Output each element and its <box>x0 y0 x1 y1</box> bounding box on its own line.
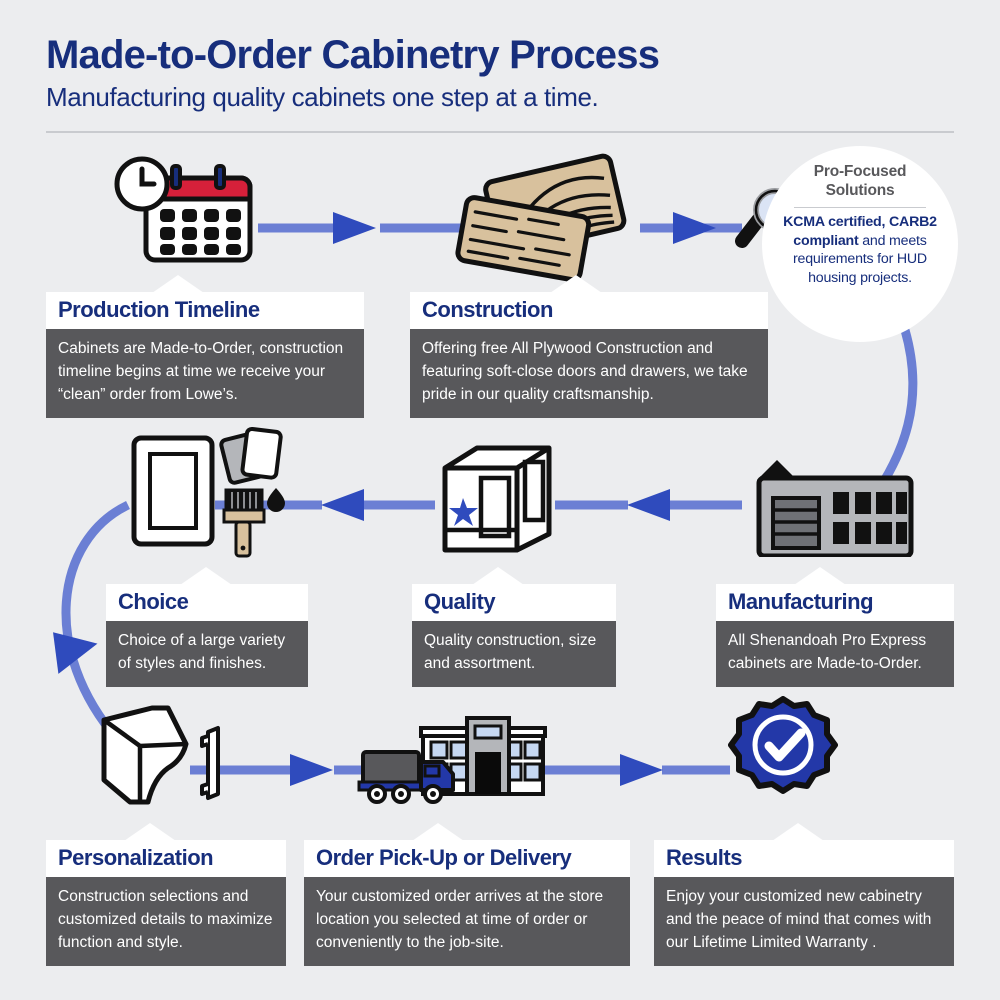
card-construction: Construction Offering free All Plywood C… <box>410 292 768 418</box>
card-results: Results Enjoy your customized new cabine… <box>654 840 954 966</box>
card-order-pickup-delivery: Order Pick-Up or Delivery Your customize… <box>304 840 630 966</box>
card-body: Choice of a large variety of styles and … <box>106 621 308 687</box>
arrowhead-right-3 <box>290 754 333 786</box>
card-heading: Order Pick-Up or Delivery <box>304 840 630 877</box>
card-heading: Choice <box>106 584 308 621</box>
truck-store-icon <box>355 704 550 806</box>
arrowhead-right-1 <box>333 212 376 244</box>
card-heading: Construction <box>410 292 768 329</box>
card-heading: Manufacturing <box>716 584 954 621</box>
pro-focused-badge: Pro-Focused Solutions KCMA certified, CA… <box>762 146 958 342</box>
card-pointer <box>472 567 524 585</box>
factory-icon <box>745 452 920 557</box>
card-pointer <box>772 823 824 841</box>
card-pointer <box>152 275 204 293</box>
cabinet-star-icon <box>437 442 557 554</box>
card-body-text: Cabinets are Made-to-Order, construction… <box>58 338 352 407</box>
card-heading: Results <box>654 840 954 877</box>
arrowhead-left-2 <box>321 489 364 521</box>
card-body-text: All Shenandoah Pro Express cabinets are … <box>728 630 942 676</box>
card-heading: Production Timeline <box>46 292 364 329</box>
card-manufacturing: Manufacturing All Shenandoah Pro Express… <box>716 584 954 687</box>
infographic-canvas: Made-to-Order Cabinetry Process Manufact… <box>0 0 1000 1000</box>
card-personalization: Personalization Construction selections … <box>46 840 286 966</box>
card-quality: Quality Quality construction, size and a… <box>412 584 616 687</box>
card-body: Construction selections and customized d… <box>46 877 286 966</box>
card-body-text: Construction selections and customized d… <box>58 886 274 955</box>
check-badge-icon <box>728 696 838 806</box>
card-body: Quality construction, size and assortmen… <box>412 621 616 687</box>
card-pointer <box>412 823 464 841</box>
arrowhead-left-1 <box>627 489 670 521</box>
pro-badge-text: KCMA certified, CARB2 compliant and meet… <box>778 213 942 287</box>
card-body-text: Quality construction, size and assortmen… <box>424 630 604 676</box>
card-body-text: Choice of a large variety of styles and … <box>118 630 296 676</box>
plywood-boards-icon <box>445 146 645 286</box>
card-body: Enjoy your customized new cabinetry and … <box>654 877 954 966</box>
card-body-text: Enjoy your customized new cabinetry and … <box>666 886 942 955</box>
arrowhead-right-2 <box>673 212 716 244</box>
card-production-timeline: Production Timeline Cabinets are Made-to… <box>46 292 364 418</box>
card-body: All Shenandoah Pro Express cabinets are … <box>716 621 954 687</box>
calendar-clock-icon <box>104 156 264 266</box>
card-heading: Quality <box>412 584 616 621</box>
card-pointer <box>550 275 602 293</box>
card-body-text: Offering free All Plywood Construction a… <box>422 338 756 407</box>
card-body: Offering free All Plywood Construction a… <box>410 329 768 418</box>
pro-badge-divider <box>794 207 926 209</box>
card-pointer <box>180 567 232 585</box>
card-body-text: Your customized order arrives at the sto… <box>316 886 618 955</box>
pro-badge-title: Pro-Focused Solutions <box>778 162 942 201</box>
card-pointer <box>794 567 846 585</box>
card-pointer <box>124 823 176 841</box>
paint-swatch-brush-icon <box>124 422 299 562</box>
arrowhead-right-4 <box>620 754 663 786</box>
card-heading: Personalization <box>46 840 286 877</box>
card-body: Your customized order arrives at the sto… <box>304 877 630 966</box>
card-choice: Choice Choice of a large variety of styl… <box>106 584 308 687</box>
card-body: Cabinets are Made-to-Order, construction… <box>46 329 364 418</box>
crown-molding-handle-icon <box>90 702 245 814</box>
